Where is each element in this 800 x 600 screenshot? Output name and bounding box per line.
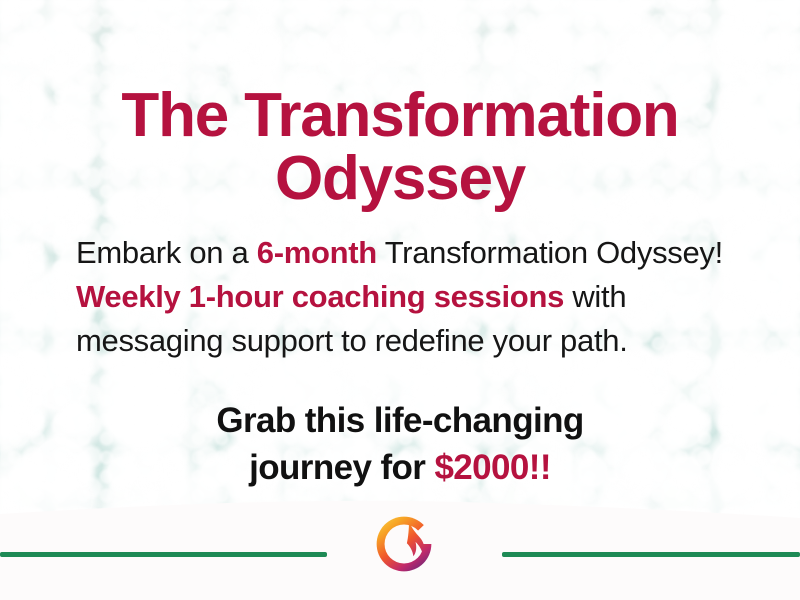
cta-line-2: journey for $2000!!	[60, 445, 740, 492]
cta-line-1: Grab this life-changing	[60, 398, 740, 445]
divider-line-left	[0, 552, 327, 557]
footer	[0, 500, 800, 600]
body-segment-1: Embark on a	[76, 235, 257, 270]
title-line-1: The Transformation	[32, 84, 768, 147]
phoenix-flame-logo	[368, 508, 440, 580]
title-line-2: Odyssey	[32, 147, 768, 210]
promo-poster: The Transformation Odyssey Embark on a 6…	[0, 0, 800, 600]
body-segment-3: Transformation Odyssey!	[377, 235, 723, 270]
body-highlight-duration: 6-month	[257, 235, 377, 270]
body-description: Embark on a 6-month Transformation Odyss…	[76, 231, 724, 363]
divider-line-right	[502, 552, 800, 557]
cta-line-2-prefix: journey for	[249, 448, 434, 487]
body-highlight-sessions: Weekly 1-hour coaching sessions	[76, 279, 564, 314]
page-title: The Transformation Odyssey	[0, 84, 800, 210]
cta-text: Grab this life-changing journey for $200…	[0, 398, 800, 491]
price-label: $2000!!	[434, 448, 550, 487]
